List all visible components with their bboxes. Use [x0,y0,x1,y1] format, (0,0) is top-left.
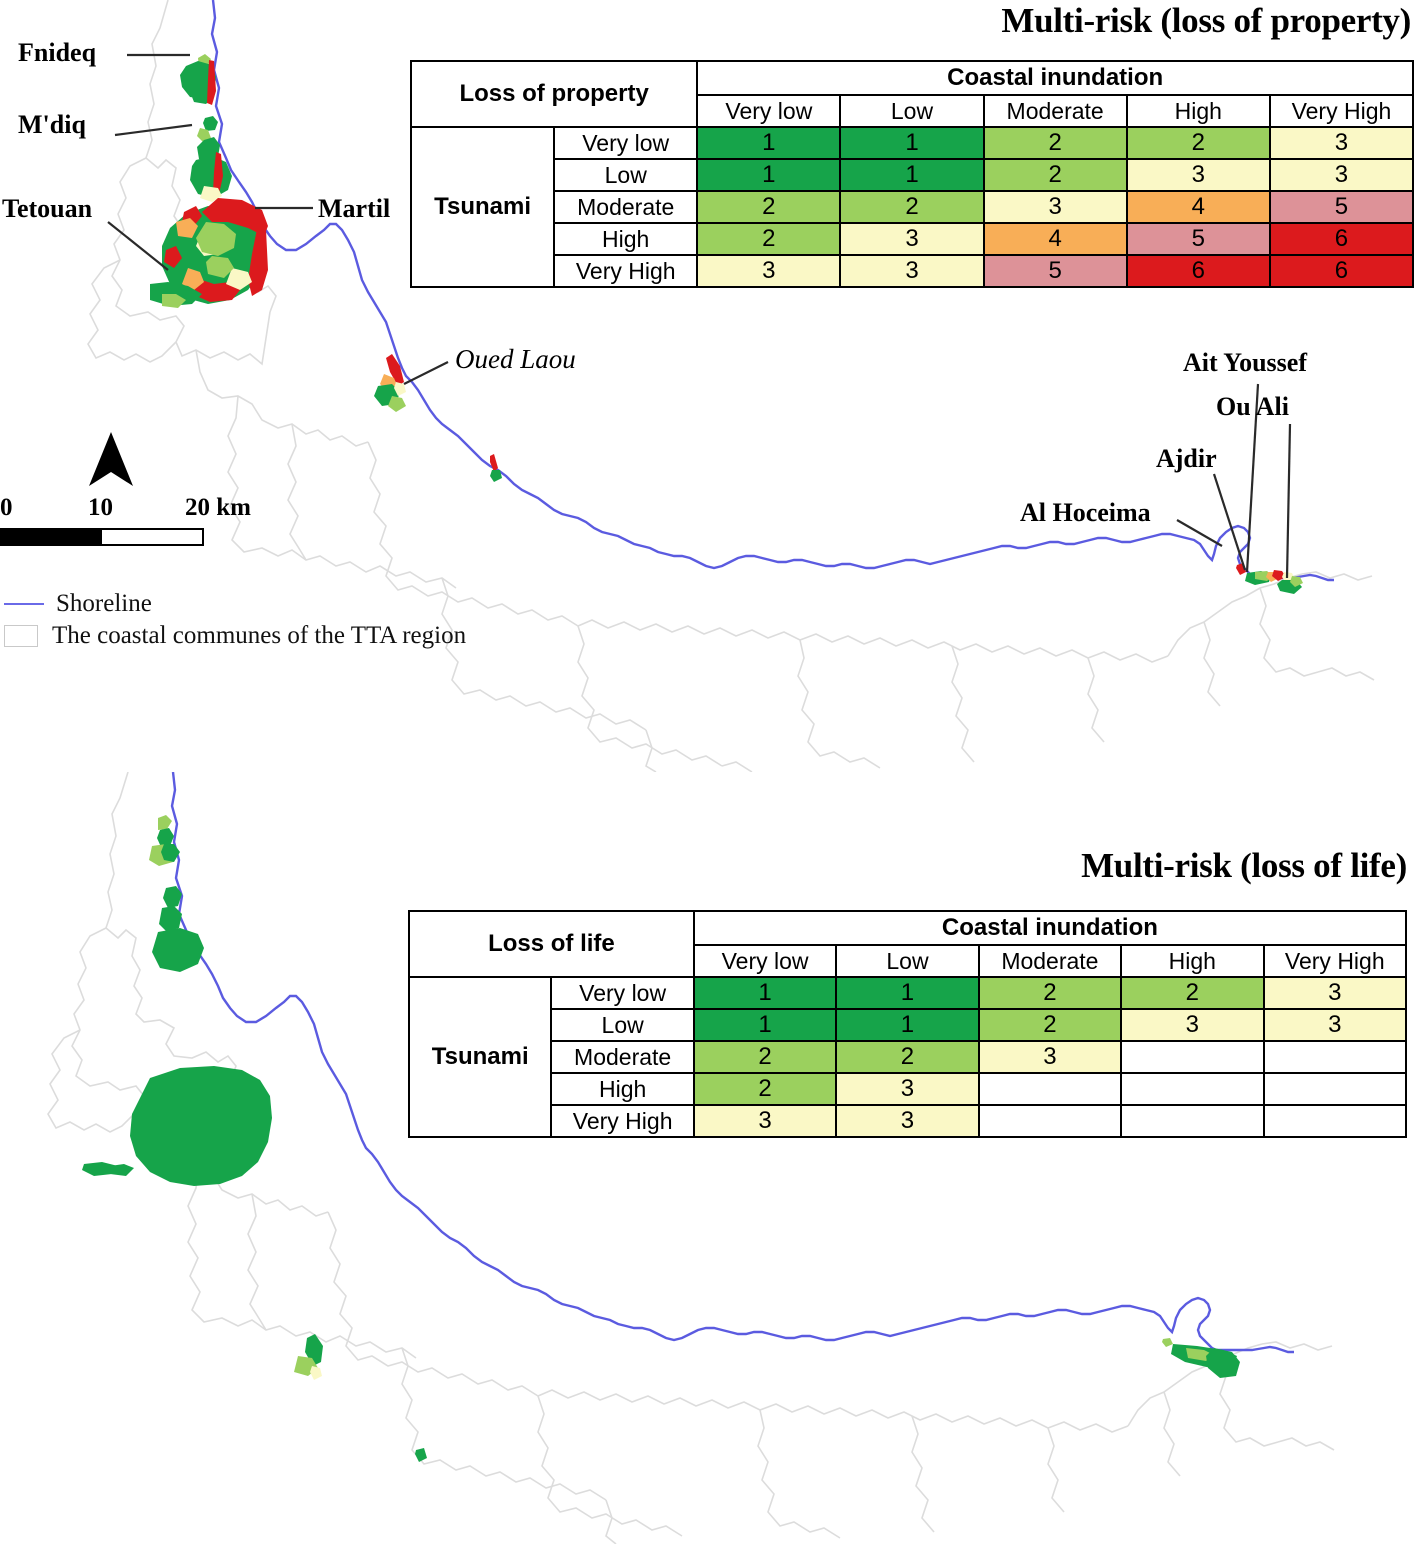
matrix-cell-1-4: 3 [1270,159,1413,191]
matrix-cell-1-3: 3 [1127,159,1270,191]
legend-label-shoreline: Shoreline [56,590,152,618]
table-row: Moderate 2 2 3 4 5 [411,191,1413,223]
matrix-cell-0-4: 3 [1264,977,1406,1009]
risk-raster-north [150,54,268,308]
matrix-cell-1-0: 1 [697,159,840,191]
matrix-row-header-3: High [554,223,697,255]
risk-raster-midcoast-life [415,1448,427,1462]
shoreline-line-icon [4,603,44,605]
matrix-cell-0-3: 2 [1121,977,1263,1009]
matrix-cell-4-3: 6 [1127,255,1270,287]
matrix-row-group-label: Tsunami [409,977,551,1137]
matrix-cell-4-4 [1264,1105,1406,1137]
matrix-row-header-1: Low [554,159,697,191]
matrix-col-header-3: High [1127,95,1270,127]
matrix-cell-3-3: 5 [1127,223,1270,255]
matrix-cell-2-1: 2 [840,191,983,223]
risk-matrix-loss-of-life: Loss of life Coastal inundation Very low… [408,910,1407,1138]
matrix-cell-2-4 [1264,1041,1406,1073]
scale-bar-ticks: 0 10 20 km [0,494,260,522]
matrix-cell-4-3 [1121,1105,1263,1137]
scale-tick-20: 20 km [185,494,251,522]
scale-tick-0: 0 [0,494,13,522]
matrix-cell-0-1: 1 [836,977,978,1009]
matrix-cell-1-2: 2 [979,1009,1121,1041]
matrix-cell-4-0: 3 [697,255,840,287]
matrix-row-header-0: Very low [554,127,697,159]
matrix-cell-0-2: 2 [984,127,1127,159]
matrix-cell-3-2 [979,1073,1121,1105]
matrix-cell-1-0: 1 [694,1009,836,1041]
panel-loss-of-life: Multi-risk (loss of life) Loss of life C… [0,772,1417,1544]
matrix-cell-0-1: 1 [840,127,983,159]
map-label-al-hoceima: Al Hoceima [1020,498,1151,528]
matrix-corner-label: Loss of life [409,911,694,977]
matrix-cell-3-0: 2 [697,223,840,255]
map-label-mdiq: M'diq [18,110,86,140]
matrix-col-header-0: Very low [697,95,840,127]
map-label-ou-ali: Ou Ali [1216,392,1289,422]
matrix-header-row-group: Loss of life Coastal inundation [409,911,1406,945]
map-label-martil: Martil [318,194,390,224]
matrix-cell-3-4 [1264,1073,1406,1105]
map-label-ajdir: Ajdir [1156,444,1217,474]
scale-bar-graphic [0,528,204,546]
matrix-cell-3-1: 3 [840,223,983,255]
scale-bar-fill [2,530,102,544]
map-label-ait-youssef: Ait Youssef [1183,348,1307,378]
table-row: Tsunami Very low 1 1 2 2 3 [409,977,1406,1009]
matrix-cell-0-4: 3 [1270,127,1413,159]
matrix-header-row-group: Loss of property Coastal inundation [411,61,1413,95]
scale-bar: 0 10 20 km [0,494,260,546]
risk-raster-alhoceima [1236,563,1303,594]
matrix-col-header-4: Very High [1270,95,1413,127]
matrix-row-header-4: Very High [554,255,697,287]
matrix-cell-0-3: 2 [1127,127,1270,159]
matrix-col-header-1: Low [836,945,978,977]
matrix-col-header-4: Very High [1264,945,1406,977]
commune-swatch-icon [4,625,38,647]
matrix-cell-4-2: 5 [984,255,1127,287]
matrix-col-header-0: Very low [694,945,836,977]
legend-row-communes: The coastal communes of the TTA region [4,620,466,652]
matrix-cell-1-1: 1 [840,159,983,191]
legend-row-shoreline: Shoreline [4,588,466,620]
matrix-cell-2-3: 4 [1127,191,1270,223]
north-arrow-icon [84,430,138,490]
map-label-oued-laou: Oued Laou [455,344,576,375]
map-legend: Shoreline The coastal communes of the TT… [4,588,466,652]
matrix-cell-4-0: 3 [694,1105,836,1137]
matrix-cell-3-0: 2 [694,1073,836,1105]
page-title-loss-of-life: Multi-risk (loss of life) [1081,846,1407,886]
matrix-cell-3-4: 6 [1270,223,1413,255]
table-row: Very High 3 3 [409,1105,1406,1137]
matrix-row-header-0: Very low [551,977,693,1009]
matrix-cell-1-2: 2 [984,159,1127,191]
matrix-cell-4-1: 3 [836,1105,978,1137]
matrix-row-header-2: Moderate [554,191,697,223]
legend-label-communes: The coastal communes of the TTA region [52,622,466,650]
table-row: Low 1 1 2 3 3 [409,1009,1406,1041]
matrix-col-header-3: High [1121,945,1263,977]
matrix-cell-1-1: 1 [836,1009,978,1041]
matrix-cell-1-4: 3 [1264,1009,1406,1041]
panel-loss-of-property: Multi-risk (loss of property) Fnideq M'd… [0,0,1417,772]
matrix-row-header-4: Very High [551,1105,693,1137]
matrix-column-group-label: Coastal inundation [697,61,1413,95]
page-title-loss-of-property: Multi-risk (loss of property) [1001,1,1411,41]
map-loss-of-life [0,772,1417,1544]
matrix-col-header-2: Moderate [984,95,1127,127]
table-row: Low 1 1 2 3 3 [411,159,1413,191]
matrix-cell-0-0: 1 [697,127,840,159]
risk-matrix-loss-of-property: Loss of property Coastal inundation Very… [410,60,1414,288]
matrix-row-group-label: Tsunami [411,127,554,287]
risk-raster-oued-laou [374,354,406,412]
matrix-cell-2-0: 2 [697,191,840,223]
table-row: High 2 3 4 5 6 [411,223,1413,255]
table-row: Moderate 2 2 3 [409,1041,1406,1073]
matrix-col-header-1: Low [840,95,983,127]
matrix-cell-2-4: 5 [1270,191,1413,223]
matrix-cell-3-2: 4 [984,223,1127,255]
map-label-fnideq: Fnideq [18,38,96,68]
matrix-cell-2-2: 3 [979,1041,1121,1073]
matrix-col-header-2: Moderate [979,945,1121,977]
table-row: Tsunami Very low 1 1 2 2 3 [411,127,1413,159]
matrix-row-header-1: Low [551,1009,693,1041]
matrix-cell-0-2: 2 [979,977,1121,1009]
matrix-cell-2-0: 2 [694,1041,836,1073]
matrix-row-header-3: High [551,1073,693,1105]
matrix-cell-3-3 [1121,1073,1263,1105]
matrix-row-header-2: Moderate [551,1041,693,1073]
matrix-corner-label: Loss of property [411,61,697,127]
table-row: High 2 3 [409,1073,1406,1105]
matrix-cell-3-1: 3 [836,1073,978,1105]
scale-tick-10: 10 [88,494,113,522]
matrix-cell-2-2: 3 [984,191,1127,223]
matrix-column-group-label: Coastal inundation [694,911,1406,945]
matrix-cell-4-1: 3 [840,255,983,287]
matrix-cell-4-2 [979,1105,1121,1137]
matrix-cell-4-4: 6 [1270,255,1413,287]
matrix-cell-1-3: 3 [1121,1009,1263,1041]
risk-raster-alhoceima-life [1162,1338,1240,1378]
matrix-cell-2-1: 2 [836,1041,978,1073]
map-label-tetouan: Tetouan [2,194,92,224]
matrix-cell-0-0: 1 [694,977,836,1009]
table-row: Very High 3 3 5 6 6 [411,255,1413,287]
matrix-cell-2-3 [1121,1041,1263,1073]
risk-raster-oued-laou-life [294,1334,323,1380]
